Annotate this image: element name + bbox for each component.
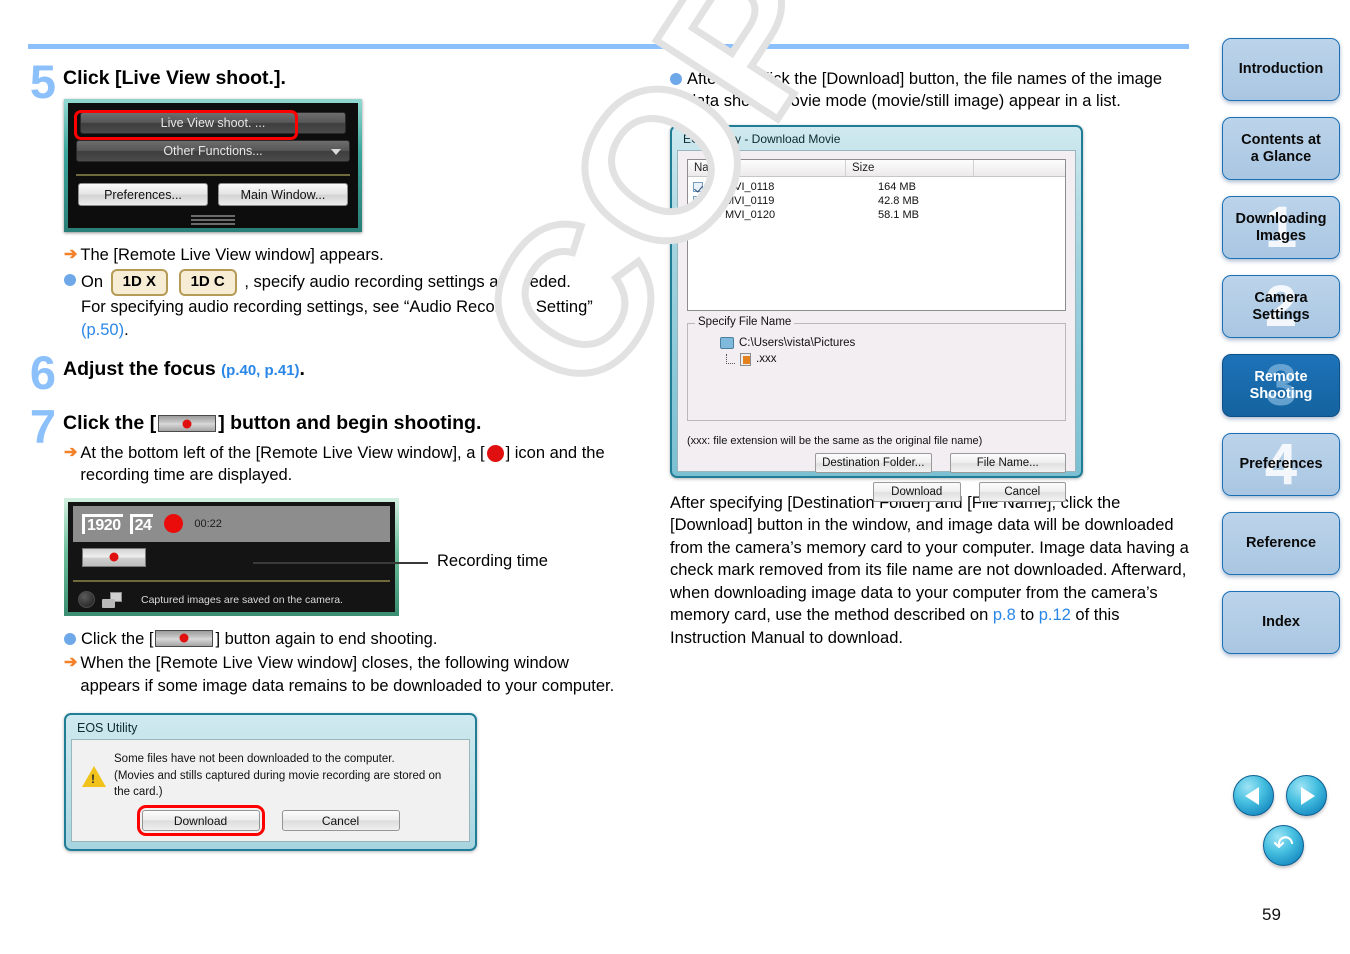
step-5: 5 Click [Live View shoot.]. bbox=[28, 66, 628, 90]
download-dialog-title: EOS Utility - Download Movie bbox=[677, 130, 1076, 150]
folder-and-name-button-row: Destination Folder... File Name... bbox=[687, 453, 1066, 473]
step-7-result-text: At the bottom left of the [Remote Live V… bbox=[80, 442, 628, 487]
sidebar-item-label: Camera Settings bbox=[1252, 290, 1309, 324]
figure-status-message: Captured images are saved on the camera. bbox=[141, 594, 343, 606]
record-button-icon bbox=[158, 415, 216, 432]
movie-file-icon bbox=[708, 196, 721, 206]
warning-message-line1: Some files have not been downloaded to t… bbox=[114, 753, 395, 765]
sidebar-item-label: Reference bbox=[1246, 535, 1316, 552]
download-intro-note: After you click the [Download] button, t… bbox=[670, 68, 1195, 113]
main-window-label: Main Window... bbox=[241, 188, 326, 202]
audio-note-rest: , specify audio recording settings as ne… bbox=[244, 273, 571, 291]
specify-file-name-group: Specify File Name C:\Users\vista\Picture… bbox=[687, 323, 1066, 421]
file-name-row[interactable]: .xxx bbox=[726, 353, 1057, 366]
table-row[interactable]: MVI_0118 164 MB bbox=[688, 180, 1065, 194]
specify-file-name-label: Specify File Name bbox=[695, 316, 794, 328]
movie-file-list[interactable]: Name Size MVI_0118 164 MB bbox=[687, 159, 1066, 311]
step-5-number: 5 bbox=[28, 60, 58, 105]
step-7-title: Click the [] button and begin shooting. bbox=[63, 411, 628, 435]
step-6-title-text: Adjust the focus bbox=[63, 358, 221, 380]
sidebar-item-downloading-images[interactable]: 1 Downloading Images bbox=[1222, 196, 1340, 259]
recording-status-bar: 1920 24 00:22 bbox=[73, 506, 390, 542]
movie-framerate-icon: 24 bbox=[130, 514, 154, 534]
column-header-size[interactable]: Size bbox=[846, 160, 974, 176]
destination-folder-path-row[interactable]: C:\Users\vista\Pictures bbox=[720, 337, 1057, 349]
step-6-title-end: . bbox=[300, 358, 305, 380]
sidebar-item-preferences[interactable]: 4 Preferences bbox=[1222, 433, 1340, 496]
page-link-p12[interactable]: p.12 bbox=[1039, 606, 1071, 624]
eos-utility-palette-figure: Live View shoot. ... Other Functions... … bbox=[64, 99, 362, 232]
sidebar-item-reference[interactable]: Reference bbox=[1222, 512, 1340, 575]
figure-status-row: Captured images are saved on the camera. bbox=[68, 582, 395, 618]
preferences-label: Preferences... bbox=[104, 188, 182, 202]
warning-dialog-body: Some files have not been downloaded to t… bbox=[71, 739, 470, 842]
file-name: MVI_0120 bbox=[725, 209, 878, 221]
sidebar-item-label: Contents at a Glance bbox=[1241, 132, 1321, 166]
folder-icon bbox=[720, 337, 734, 349]
bullet-dot-icon bbox=[670, 73, 682, 85]
file-name-button[interactable]: File Name... bbox=[950, 453, 1067, 473]
file-icon bbox=[740, 353, 751, 366]
body-to: to bbox=[1016, 606, 1039, 624]
step-7-title-a: Click the [ bbox=[63, 412, 156, 434]
eos-utility-warning-dialog: EOS Utility Some files have not been dow… bbox=[64, 713, 477, 851]
on-prefix: On bbox=[81, 273, 103, 291]
other-functions-label: Other Functions... bbox=[163, 144, 262, 158]
step-5-result-note: ➔ The [Remote Live View window] appears. bbox=[64, 244, 628, 266]
warning-cancel-button[interactable]: Cancel bbox=[282, 810, 400, 831]
left-column: 5 Click [Live View shoot.]. Live View sh… bbox=[28, 66, 628, 851]
step-5-result-text: The [Remote Live View window] appears. bbox=[80, 244, 628, 266]
record-toggle-button[interactable] bbox=[82, 548, 146, 567]
sidebar-navigation: Introduction Contents at a Glance 1 Down… bbox=[1222, 38, 1340, 654]
back-button[interactable]: ↷ bbox=[1263, 825, 1304, 866]
step-7-end-note: Click the [] button again to end shootin… bbox=[64, 628, 628, 650]
download-dialog-body: Name Size MVI_0118 164 MB bbox=[677, 150, 1076, 472]
warning-triangle-icon bbox=[82, 766, 106, 787]
destination-folder-label: Destination Folder... bbox=[822, 457, 924, 469]
file-name-value: .xxx bbox=[756, 353, 776, 365]
record-button-icon bbox=[155, 630, 213, 647]
download-intro-text: After you click the [Download] button, t… bbox=[687, 68, 1195, 113]
bullet-dot-icon bbox=[64, 274, 76, 286]
destination-folder-button[interactable]: Destination Folder... bbox=[815, 453, 932, 473]
camera-tag-1dc: 1D C bbox=[179, 269, 237, 296]
warning-cancel-label: Cancel bbox=[322, 814, 359, 828]
file-name-button-label: File Name... bbox=[977, 457, 1039, 469]
arrow-icon: ➔ bbox=[64, 442, 77, 464]
chevron-down-icon bbox=[331, 149, 341, 155]
file-checkbox[interactable] bbox=[693, 182, 703, 192]
sidebar-item-label: Introduction bbox=[1239, 61, 1324, 78]
audio-setting-ref-a: For specifying audio recording settings,… bbox=[81, 298, 593, 316]
column-header-blank bbox=[974, 160, 1065, 176]
file-size: 58.1 MB bbox=[878, 209, 1006, 221]
table-row[interactable]: MVI_0119 42.8 MB bbox=[688, 194, 1065, 208]
table-row[interactable]: MVI_0120 58.1 MB bbox=[688, 208, 1065, 222]
palette-divider bbox=[76, 174, 350, 176]
warning-message: Some files have not been downloaded to t… bbox=[114, 751, 459, 801]
step-7-bullet-b: ] button again to end shooting. bbox=[215, 630, 437, 648]
sidebar-item-camera-settings[interactable]: 2 Camera Settings bbox=[1222, 275, 1340, 338]
destination-folder-path: C:\Users\vista\Pictures bbox=[739, 337, 855, 349]
right-column: After you click the [Download] button, t… bbox=[670, 66, 1195, 649]
step-6: 6 Adjust the focus (p.40, p.41). bbox=[28, 357, 628, 381]
movie-file-icon bbox=[708, 182, 721, 192]
remote-live-view-recording-figure: 1920 24 00:22 Captured images are saved … bbox=[64, 498, 399, 616]
warning-download-label: Download bbox=[174, 814, 227, 828]
step-7-end-text: Click the [] button again to end shootin… bbox=[81, 628, 628, 650]
step-7: 7 Click the [] button and begin shooting… bbox=[28, 411, 628, 435]
step-7-bullet-a: Click the [ bbox=[81, 630, 153, 648]
recording-indicator-icon bbox=[164, 514, 183, 533]
warning-dialog-title: EOS Utility bbox=[71, 719, 470, 739]
step-7-title-b: ] button and begin shooting. bbox=[218, 412, 481, 434]
tree-branch-icon bbox=[726, 354, 735, 364]
live-view-highlight-ring bbox=[74, 110, 298, 140]
movie-file-icon bbox=[708, 210, 721, 220]
camera-to-computer-icon bbox=[102, 592, 122, 608]
page-number: 59 bbox=[1262, 905, 1281, 925]
page-link-p8[interactable]: p.8 bbox=[993, 606, 1016, 624]
sidebar-item-label: Index bbox=[1262, 614, 1300, 631]
step-7-close-note: ➔ When the [Remote Live View window] clo… bbox=[64, 652, 628, 697]
sidebar-item-remote-shooting[interactable]: 3 Remote Shooting bbox=[1222, 354, 1340, 417]
file-name: MVI_0118 bbox=[725, 181, 878, 193]
file-extension-note: (xxx: file extension will be the same as… bbox=[687, 435, 1066, 447]
step-6-number: 6 bbox=[28, 351, 58, 396]
page-link-p40-p41[interactable]: (p.40, p.41) bbox=[221, 362, 299, 379]
arrow-icon: ➔ bbox=[64, 652, 77, 674]
body-text-a: After specifying [Destination Folder] an… bbox=[670, 494, 1189, 624]
warning-download-button[interactable]: Download bbox=[142, 810, 260, 831]
sidebar-item-label: Preferences bbox=[1239, 456, 1322, 473]
download-movie-dialog: EOS Utility - Download Movie Name Size M… bbox=[670, 125, 1083, 478]
step-5-audio-text: On 1D X 1D C , specify audio recording s… bbox=[81, 269, 628, 341]
file-checkbox[interactable] bbox=[693, 196, 703, 206]
resize-grip-icon[interactable] bbox=[191, 215, 235, 225]
sidebar-item-label: Downloading Images bbox=[1235, 211, 1326, 245]
chevron-left-icon bbox=[1245, 787, 1259, 805]
arrow-icon: ➔ bbox=[64, 244, 77, 266]
step-6-title: Adjust the focus (p.40, p.41). bbox=[63, 357, 628, 381]
preferences-button[interactable]: Preferences... bbox=[78, 183, 208, 206]
page-navigation-buttons: ↷ bbox=[1233, 775, 1333, 866]
record-dot-icon bbox=[487, 445, 504, 462]
audio-setting-ref-b: . bbox=[124, 321, 129, 339]
sidebar-item-index[interactable]: Index bbox=[1222, 591, 1340, 654]
download-label: Download bbox=[891, 486, 942, 498]
manual-page: COPY 5 Click [Live View shoot.]. Live Vi… bbox=[0, 0, 1350, 954]
step-7-number: 7 bbox=[28, 405, 58, 450]
recording-time-callout-line bbox=[253, 562, 428, 564]
file-name: MVI_0119 bbox=[725, 195, 878, 207]
return-arrow-icon: ↷ bbox=[1273, 833, 1294, 858]
download-button[interactable]: Download bbox=[873, 482, 961, 502]
header-rule bbox=[28, 44, 1189, 49]
cancel-button[interactable]: Cancel bbox=[979, 482, 1067, 502]
recording-time-callout-label: Recording time bbox=[437, 552, 548, 571]
main-window-button[interactable]: Main Window... bbox=[218, 183, 348, 206]
step-5-title: Click [Live View shoot.]. bbox=[63, 66, 628, 90]
sidebar-item-contents-at-a-glance[interactable]: Contents at a Glance bbox=[1222, 117, 1340, 180]
step-7-close-text: When the [Remote Live View window] close… bbox=[80, 652, 628, 697]
sidebar-item-introduction[interactable]: Introduction bbox=[1222, 38, 1340, 101]
download-body-paragraph: After specifying [Destination Folder] an… bbox=[670, 492, 1195, 649]
file-size: 42.8 MB bbox=[878, 195, 1006, 207]
step-5-audio-note: On 1D X 1D C , specify audio recording s… bbox=[64, 269, 628, 341]
step-7-arrow-a: At the bottom left of the [Remote Live V… bbox=[80, 444, 484, 462]
page-link-p50[interactable]: (p.50) bbox=[81, 321, 124, 339]
camera-tag-1dx: 1D X bbox=[111, 269, 168, 296]
step-7-result-note: ➔ At the bottom left of the [Remote Live… bbox=[64, 442, 628, 487]
file-checkbox[interactable] bbox=[693, 210, 703, 220]
movie-resolution-icon: 1920 bbox=[82, 514, 123, 534]
file-list-header: Name Size bbox=[688, 160, 1065, 177]
next-page-button[interactable] bbox=[1286, 775, 1327, 816]
cancel-label: Cancel bbox=[1004, 486, 1040, 498]
chevron-right-icon bbox=[1301, 787, 1315, 805]
bullet-dot-icon bbox=[64, 633, 76, 645]
download-cancel-button-row: Download Cancel bbox=[687, 482, 1066, 502]
previous-page-button[interactable] bbox=[1233, 775, 1274, 816]
column-header-name[interactable]: Name bbox=[688, 160, 846, 176]
shutter-knob-icon[interactable] bbox=[78, 591, 95, 608]
sidebar-item-label: Remote Shooting bbox=[1250, 369, 1313, 403]
other-functions-button[interactable]: Other Functions... bbox=[76, 140, 350, 162]
warning-message-line2: (Movies and stills captured during movie… bbox=[114, 770, 441, 799]
file-size: 164 MB bbox=[878, 181, 1006, 193]
recording-time-value: 00:22 bbox=[194, 518, 222, 530]
